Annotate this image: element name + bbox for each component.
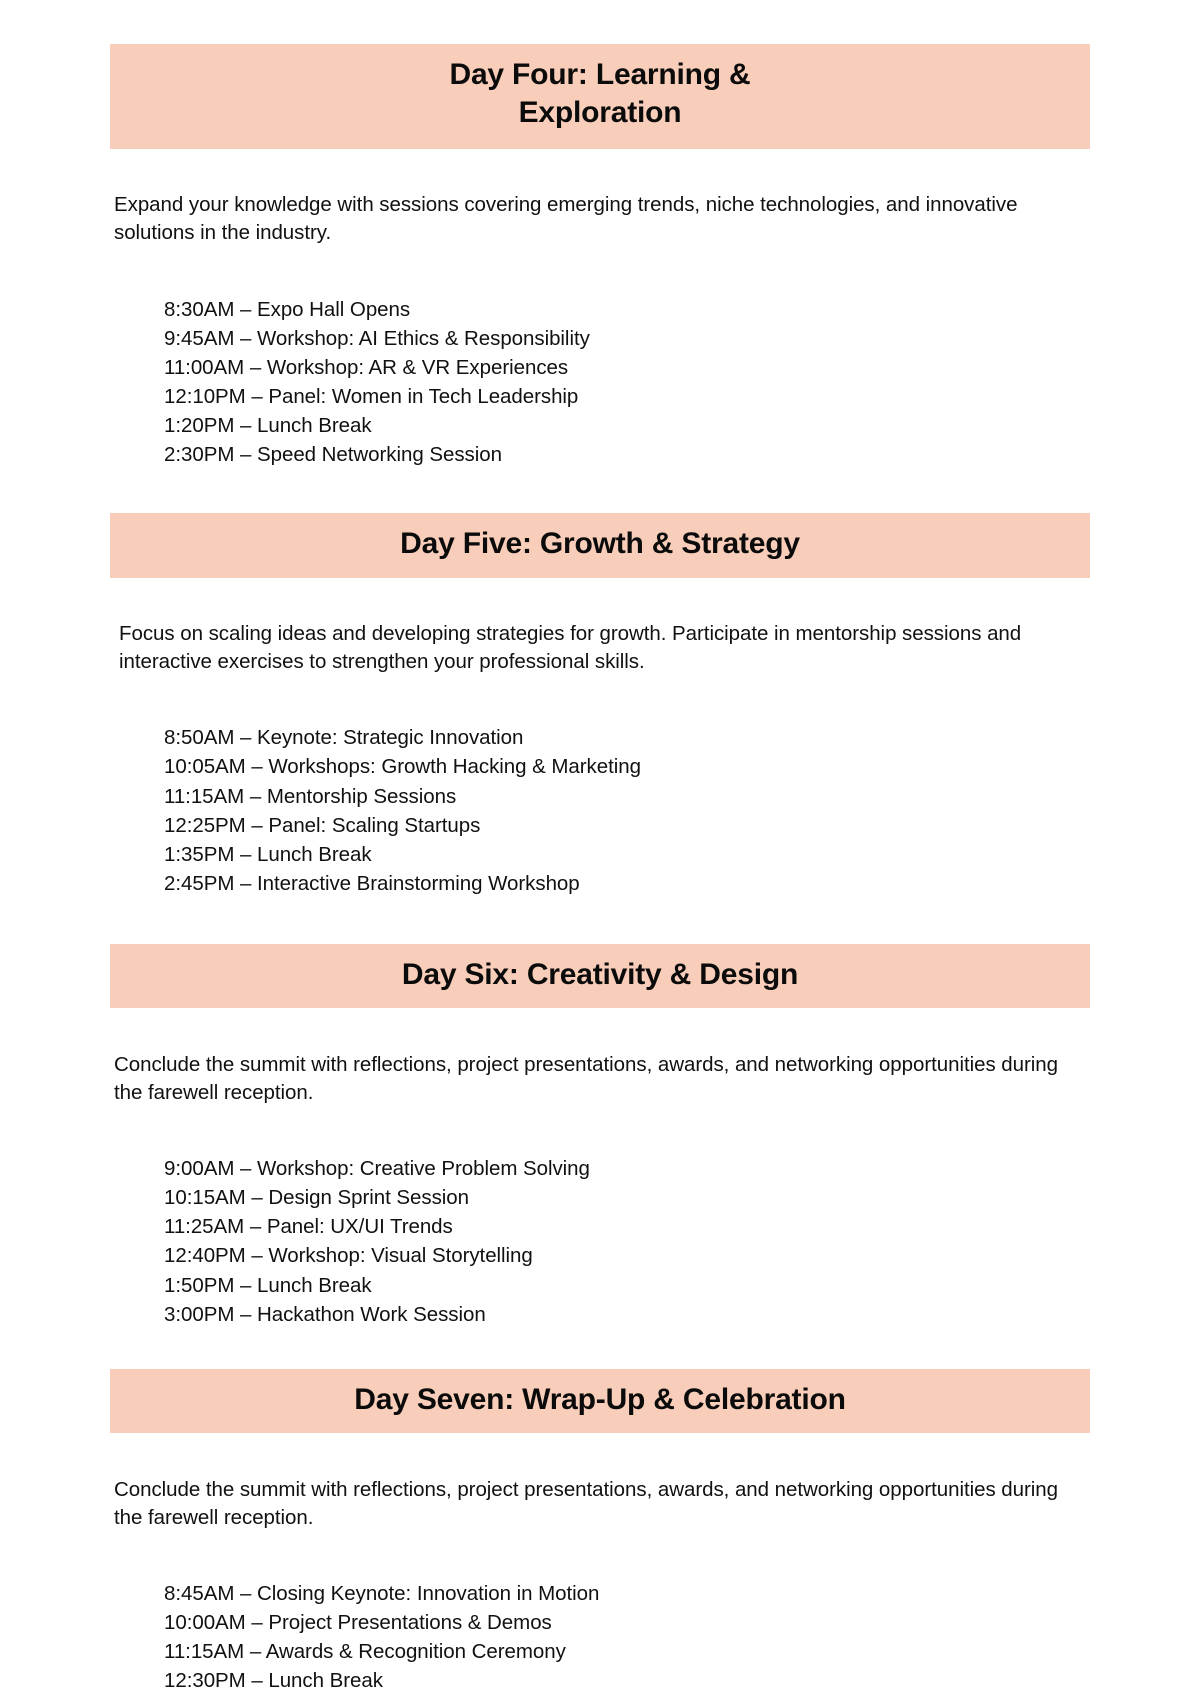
- schedule-item: 11:15AM – Mentorship Sessions: [164, 782, 1090, 811]
- schedule-item: 1:35PM – Lunch Break: [164, 840, 1090, 869]
- day-section-seven: Day Seven: Wrap-Up & Celebration Conclud…: [110, 1369, 1090, 1697]
- day-four-header: Day Four: Learning & Exploration: [110, 44, 1090, 149]
- schedule-item: 11:25AM – Panel: UX/UI Trends: [164, 1212, 1090, 1241]
- schedule-item: 12:40PM – Workshop: Visual Storytelling: [164, 1241, 1090, 1270]
- schedule-item: 1:20PM – Lunch Break: [164, 411, 1090, 440]
- day-six-description: Conclude the summit with reflections, pr…: [110, 1029, 1080, 1107]
- schedule-item: 9:45AM – Workshop: AI Ethics & Responsib…: [164, 324, 1090, 353]
- day-section-five: Day Five: Growth & Strategy Focus on sca…: [110, 513, 1090, 898]
- day-six-header: Day Six: Creativity & Design: [110, 944, 1090, 1008]
- day-section-four: Day Four: Learning & Exploration Expand …: [110, 44, 1090, 469]
- schedule-document-page: Day Four: Learning & Exploration Expand …: [0, 0, 1200, 1697]
- day-five-description: Focus on scaling ideas and developing st…: [110, 598, 1085, 676]
- day-four-schedule-list: 8:30AM – Expo Hall Opens 9:45AM – Worksh…: [110, 268, 1090, 470]
- schedule-item: 2:30PM – Speed Networking Session: [164, 440, 1090, 469]
- schedule-item: 11:00AM – Workshop: AR & VR Experiences: [164, 353, 1090, 382]
- schedule-item: 10:00AM – Project Presentations & Demos: [164, 1608, 1090, 1637]
- schedule-item: 12:10PM – Panel: Women in Tech Leadershi…: [164, 382, 1090, 411]
- day-seven-schedule-list: 8:45AM – Closing Keynote: Innovation in …: [110, 1552, 1090, 1697]
- day-four-description: Expand your knowledge with sessions cove…: [110, 169, 1080, 247]
- schedule-item: 2:45PM – Interactive Brainstorming Works…: [164, 869, 1090, 898]
- day-four-title-line2: Exploration: [124, 94, 1076, 132]
- schedule-item: 8:50AM – Keynote: Strategic Innovation: [164, 723, 1090, 752]
- schedule-item: 8:30AM – Expo Hall Opens: [164, 295, 1090, 324]
- day-five-header: Day Five: Growth & Strategy: [110, 513, 1090, 577]
- day-seven-header: Day Seven: Wrap-Up & Celebration: [110, 1369, 1090, 1433]
- day-seven-description: Conclude the summit with reflections, pr…: [110, 1454, 1080, 1532]
- day-seven-title: Day Seven: Wrap-Up & Celebration: [124, 1381, 1076, 1419]
- schedule-item: 3:00PM – Hackathon Work Session: [164, 1300, 1090, 1329]
- section-spacer: [110, 1329, 1090, 1369]
- schedule-item: 8:45AM – Closing Keynote: Innovation in …: [164, 1579, 1090, 1608]
- section-spacer: [110, 469, 1090, 513]
- schedule-item: 10:05AM – Workshops: Growth Hacking & Ma…: [164, 752, 1090, 781]
- schedule-item: 11:15AM – Awards & Recognition Ceremony: [164, 1637, 1090, 1666]
- schedule-item: 12:25PM – Panel: Scaling Startups: [164, 811, 1090, 840]
- section-spacer: [110, 898, 1090, 944]
- schedule-item: 9:00AM – Workshop: Creative Problem Solv…: [164, 1154, 1090, 1183]
- day-five-title: Day Five: Growth & Strategy: [124, 525, 1076, 563]
- day-four-title-line1: Day Four: Learning &: [124, 56, 1076, 94]
- day-section-six: Day Six: Creativity & Design Conclude th…: [110, 944, 1090, 1329]
- day-six-schedule-list: 9:00AM – Workshop: Creative Problem Solv…: [110, 1127, 1090, 1329]
- schedule-item: 12:30PM – Lunch Break: [164, 1666, 1090, 1695]
- day-six-title: Day Six: Creativity & Design: [124, 956, 1076, 994]
- schedule-item: 10:15AM – Design Sprint Session: [164, 1183, 1090, 1212]
- document-content: Day Four: Learning & Exploration Expand …: [110, 0, 1090, 1697]
- day-five-schedule-list: 8:50AM – Keynote: Strategic Innovation 1…: [110, 696, 1090, 898]
- schedule-item: 1:50PM – Lunch Break: [164, 1271, 1090, 1300]
